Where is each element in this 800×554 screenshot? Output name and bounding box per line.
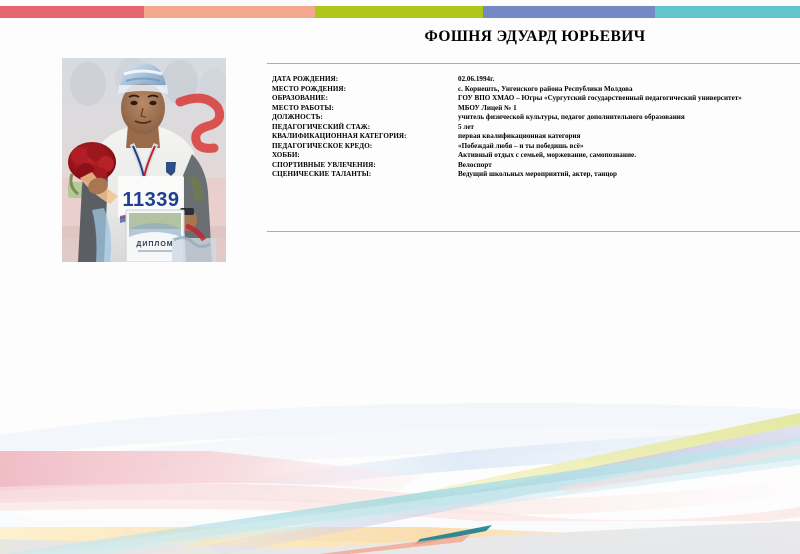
info-row-label: КВАЛИФИКАЦИОННАЯ КАТЕГОРИЯ: bbox=[272, 132, 458, 142]
info-row-label: ПЕДАГОГИЧЕСКОЕ КРЕДО: bbox=[272, 142, 458, 152]
info-row: ДАТА РОЖДЕНИЯ:02.06.1994г. bbox=[272, 75, 800, 85]
strip-segment-green bbox=[315, 6, 483, 18]
top-color-strip bbox=[0, 6, 800, 18]
decorative-swoosh bbox=[0, 395, 800, 554]
info-row-value: Активный отдых с семьей, моржевание, сам… bbox=[458, 151, 800, 161]
portrait-photo: 11339 bbox=[62, 58, 226, 262]
info-row-value: учитель физической культуры, педагог доп… bbox=[458, 113, 800, 123]
portrait-photo-image: 11339 bbox=[62, 58, 226, 262]
info-row-label: СЦЕНИЧЕСКИЕ ТАЛАНТЫ: bbox=[272, 170, 458, 180]
svg-text:11339: 11339 bbox=[122, 189, 179, 211]
info-row-value: 5 лет bbox=[458, 123, 800, 133]
strip-segment-salmon bbox=[144, 6, 315, 18]
info-row-value: с. Корнешть, Унгенского района Республик… bbox=[458, 85, 800, 95]
divider-bottom bbox=[267, 231, 800, 232]
info-row: ОБРАЗОВАНИЕ:ГОУ ВПО ХМАО – Югры «Сургутс… bbox=[272, 94, 800, 104]
page-title: ФОШНЯ ЭДУАРД ЮРЬЕВИЧ bbox=[265, 28, 800, 46]
strip-segment-blue bbox=[483, 6, 655, 18]
info-row: СЦЕНИЧЕСКИЕ ТАЛАНТЫ:Ведущий школьных мер… bbox=[272, 170, 800, 180]
info-row-label: СПОРТИВНЫЕ УВЛЕЧЕНИЯ: bbox=[272, 161, 458, 171]
info-row: ПЕДАГОГИЧЕСКИЙ СТАЖ:5 лет bbox=[272, 123, 800, 133]
info-row-value: ГОУ ВПО ХМАО – Югры «Сургутский государс… bbox=[458, 94, 800, 104]
presentation-slide: 11339 bbox=[0, 0, 800, 554]
info-row-value: 02.06.1994г. bbox=[458, 75, 800, 85]
info-row-label: ДОЛЖНОСТЬ: bbox=[272, 113, 458, 123]
info-row: СПОРТИВНЫЕ УВЛЕЧЕНИЯ:Велоспорт bbox=[272, 161, 800, 171]
info-row-value: Велоспорт bbox=[458, 161, 800, 171]
info-row: ПЕДАГОГИЧЕСКОЕ КРЕДО:«Побеждай любя – и … bbox=[272, 142, 800, 152]
info-row: КВАЛИФИКАЦИОННАЯ КАТЕГОРИЯ:первая квалиф… bbox=[272, 132, 800, 142]
info-row: МЕСТО РАБОТЫ:МБОУ Лицей № 1 bbox=[272, 104, 800, 114]
info-row-label: ОБРАЗОВАНИЕ: bbox=[272, 94, 458, 104]
profile-info-table: ДАТА РОЖДЕНИЯ:02.06.1994г.МЕСТО РОЖДЕНИЯ… bbox=[272, 75, 800, 180]
info-row-label: МЕСТО РАБОТЫ: bbox=[272, 104, 458, 114]
info-row-value: МБОУ Лицей № 1 bbox=[458, 104, 800, 114]
profile-info: ДАТА РОЖДЕНИЯ:02.06.1994г.МЕСТО РОЖДЕНИЯ… bbox=[272, 75, 800, 180]
strip-segment-teal bbox=[655, 6, 800, 18]
info-row: МЕСТО РОЖДЕНИЯ:с. Корнешть, Унгенского р… bbox=[272, 85, 800, 95]
info-row-value: «Побеждай любя – и ты победишь всё» bbox=[458, 142, 800, 152]
info-row-label: ХОББИ: bbox=[272, 151, 458, 161]
info-row-label: МЕСТО РОЖДЕНИЯ: bbox=[272, 85, 458, 95]
info-row-label: ПЕДАГОГИЧЕСКИЙ СТАЖ: bbox=[272, 123, 458, 133]
strip-segment-red bbox=[0, 6, 144, 18]
info-row: ХОББИ:Активный отдых с семьей, моржевани… bbox=[272, 151, 800, 161]
svg-text:ДИПЛОМ: ДИПЛОМ bbox=[136, 241, 173, 248]
info-row-value: Ведущий школьных мероприятий, актер, тан… bbox=[458, 170, 800, 180]
info-row-value: первая квалификационная категория bbox=[458, 132, 800, 142]
info-row-label: ДАТА РОЖДЕНИЯ: bbox=[272, 75, 458, 85]
info-row: ДОЛЖНОСТЬ:учитель физической культуры, п… bbox=[272, 113, 800, 123]
divider-top bbox=[267, 63, 800, 64]
